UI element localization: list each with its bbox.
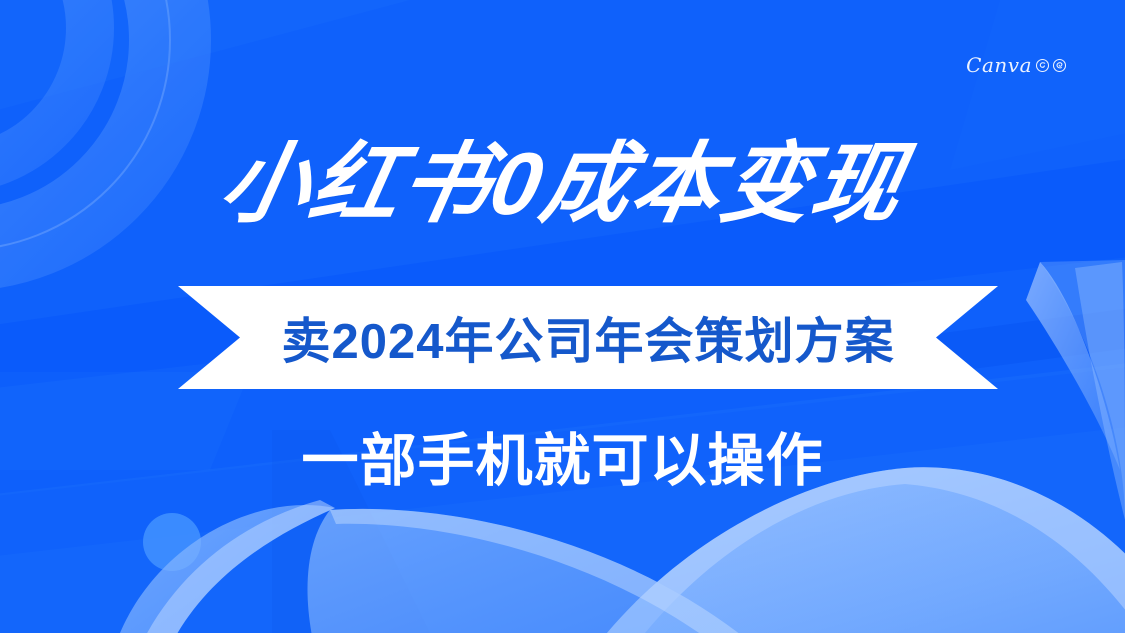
- poster-canvas: 小红书0成本变现 卖2024年公司年会策划方案 一部手机就可以操作 Canva: [0, 0, 1125, 633]
- subtitle-banner: 卖2024年公司年会策划方案: [178, 286, 998, 389]
- canva-wordmark: Canva: [966, 55, 1032, 75]
- poster-content: 小红书0成本变现 卖2024年公司年会策划方案 一部手机就可以操作: [0, 0, 1125, 633]
- canva-spiral-mark-1-icon: [1035, 58, 1050, 73]
- banner-label: 卖2024年公司年会策划方案: [178, 286, 998, 389]
- page-title: 小红书0成本变现: [0, 140, 1125, 228]
- page-tagline: 一部手机就可以操作: [0, 432, 1125, 492]
- canva-spiral-mark-2-icon: [1052, 58, 1067, 73]
- canva-marks: [1035, 58, 1067, 73]
- canva-watermark: Canva: [966, 55, 1067, 75]
